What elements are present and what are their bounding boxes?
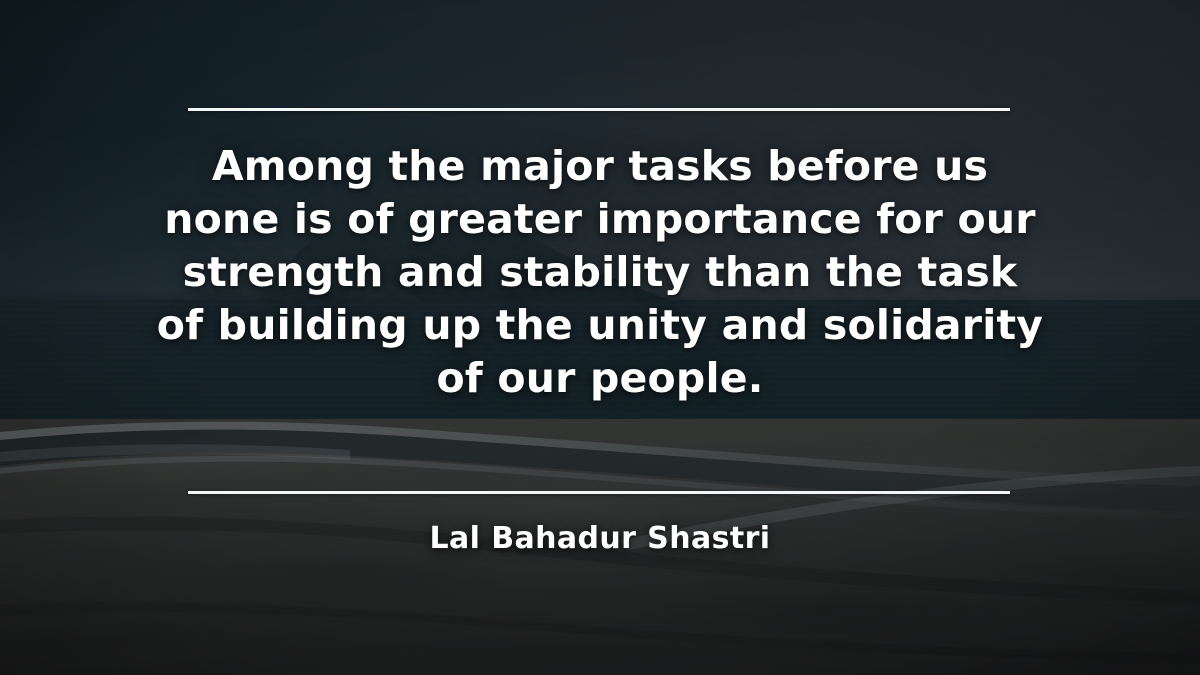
divider-bottom [188,491,1010,494]
quote-content: Among the major tasks before us none is … [0,0,1200,675]
quote-text: Among the major tasks before us none is … [150,140,1050,405]
quote-card: Among the major tasks before us none is … [0,0,1200,675]
author-name: Lal Bahadur Shastri [150,521,1050,556]
divider-top [188,108,1010,111]
